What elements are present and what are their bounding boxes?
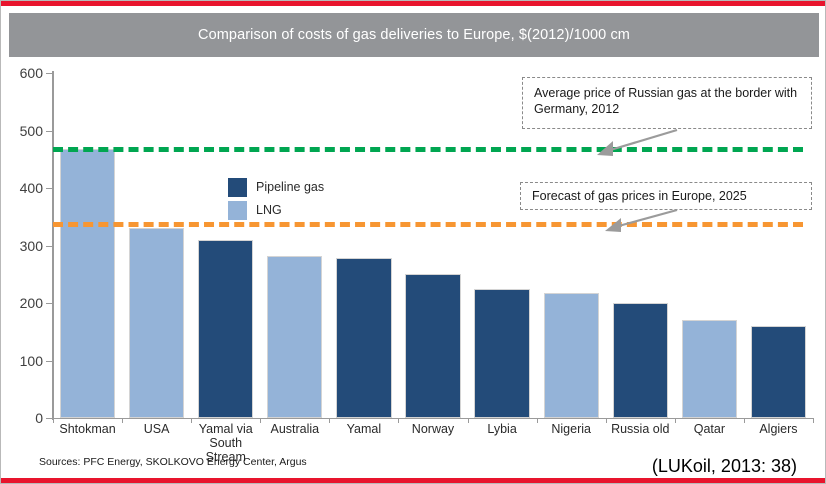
bar-shtokman	[60, 149, 115, 418]
x-axis-tick-mark	[813, 418, 814, 423]
legend-item-lng: LNG	[228, 200, 324, 220]
x-axis-label-russia-old: Russia old	[606, 422, 675, 436]
bar-yamal	[336, 258, 391, 418]
top-accent-rule	[1, 1, 826, 6]
y-axis-tick-label: 600	[1, 65, 43, 81]
x-axis-label-usa: USA	[122, 422, 191, 436]
y-axis-tick-mark	[46, 131, 52, 132]
callout-russian-gas-price: Average price of Russian gas at the bord…	[522, 77, 812, 129]
y-axis-tick-label: 200	[1, 295, 43, 311]
x-axis-label-norway: Norway	[398, 422, 467, 436]
x-axis-label-australia: Australia	[260, 422, 329, 436]
x-axis-label-qatar: Qatar	[675, 422, 744, 436]
bar-nigeria	[544, 293, 599, 418]
y-axis-tick-mark	[46, 303, 52, 304]
citation-label: (LUKoil, 2013: 38)	[652, 456, 797, 477]
chart-legend: Pipeline gas LNG	[228, 177, 324, 223]
y-axis-line	[52, 71, 54, 420]
callout-russian-gas-price-arrow	[591, 127, 681, 159]
x-axis-line	[52, 418, 814, 419]
y-axis-tick-mark	[46, 188, 52, 189]
bar-russia-old	[613, 303, 668, 418]
x-axis-tick-mark	[53, 418, 54, 423]
callout-forecast-prices: Forecast of gas prices in Europe, 2025	[520, 182, 812, 210]
bar-qatar	[682, 320, 737, 418]
bottom-accent-rule	[1, 478, 826, 483]
reference-line-avg-russian-price	[53, 147, 803, 152]
x-axis-label-nigeria: Nigeria	[537, 422, 606, 436]
x-axis-label-shtokman: Shtokman	[53, 422, 122, 436]
bar-algiers	[751, 326, 806, 418]
y-axis-tick-label: 500	[1, 123, 43, 139]
y-axis-tick-label: 0	[1, 410, 43, 426]
callout-forecast-prices-arrow	[597, 208, 687, 234]
reference-line-forecast-2025	[53, 222, 803, 227]
callout-russian-gas-price-text: Average price of Russian gas at the bord…	[534, 86, 797, 116]
bar-usa	[129, 228, 184, 418]
callout-forecast-prices-text: Forecast of gas prices in Europe, 2025	[532, 189, 747, 203]
y-axis-tick-mark	[46, 73, 52, 74]
x-axis-label-lybia: Lybia	[468, 422, 537, 436]
legend-label-pipeline-gas: Pipeline gas	[256, 180, 324, 194]
legend-item-pipeline-gas: Pipeline gas	[228, 177, 324, 197]
chart-title-band: Comparison of costs of gas deliveries to…	[9, 13, 819, 57]
bar-yamal-via-south-stream	[198, 240, 253, 418]
y-axis-tick-mark	[46, 418, 52, 419]
y-axis-tick-label: 100	[1, 353, 43, 369]
sources-note: Sources: PFC Energy, SKOLKOVO Energy Cen…	[39, 456, 307, 468]
y-axis-tick-label: 400	[1, 180, 43, 196]
legend-swatch-pipeline-gas	[228, 178, 247, 197]
legend-swatch-lng	[228, 201, 247, 220]
slide-canvas: Comparison of costs of gas deliveries to…	[0, 0, 826, 484]
x-axis-label-yamal: Yamal	[329, 422, 398, 436]
page-title: Comparison of costs of gas deliveries to…	[198, 27, 630, 43]
bar-lybia	[474, 289, 529, 418]
y-axis-tick-mark	[46, 361, 52, 362]
bar-norway	[405, 274, 460, 418]
x-axis-label-algiers: Algiers	[744, 422, 813, 436]
y-axis-tick-mark	[46, 246, 52, 247]
legend-label-lng: LNG	[256, 203, 282, 217]
bar-australia	[267, 256, 322, 418]
y-axis-tick-label: 300	[1, 238, 43, 254]
